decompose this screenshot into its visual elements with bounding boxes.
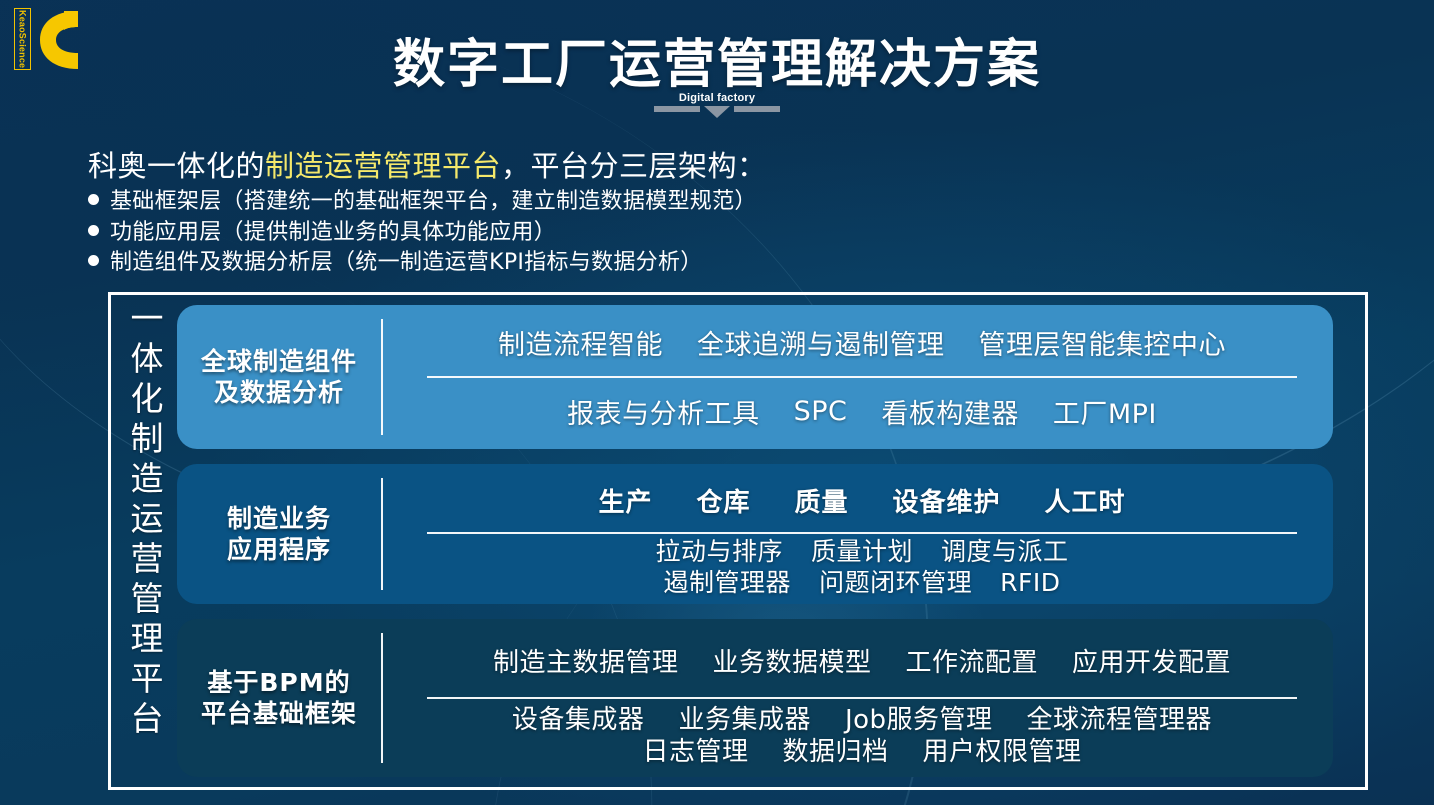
layer-item[interactable]: 看板构建器 — [881, 392, 1019, 431]
row-top-items: 生产 仓库 质量 设备维护 人工时 — [401, 470, 1323, 530]
layer-item[interactable]: RFID — [1000, 567, 1060, 598]
list-item: 基础框架层（搭建统一的基础框架平台，建立制造数据模型规范） — [88, 187, 1088, 217]
row-vertical-divider — [381, 633, 383, 763]
layer-item[interactable]: 设备维护 — [893, 482, 1001, 519]
deco-triangle-icon — [704, 106, 730, 118]
layer-row-business-applications[interactable]: 制造业务 应用程序 生产 仓库 质量 设备维护 人工时 — [177, 464, 1333, 604]
row-label-line1: 制造业务 — [227, 503, 331, 535]
page-title: 数字工厂运营管理解决方案 — [0, 22, 1434, 97]
row-bottom-items: 报表与分析工具 SPC 看板构建器 工厂MPI — [401, 380, 1323, 443]
row-label-business-applications: 制造业务 应用程序 — [177, 464, 381, 604]
intro-lead-before: 科奥一体化的 — [88, 149, 265, 183]
intro-block: 科奥一体化的制造运营管理平台，平台分三层架构： 基础框架层（搭建统一的基础框架平… — [88, 150, 1088, 278]
row-bottom-items: 拉动与排序 质量计划 调度与派工 遏制管理器 问题闭环管理 RFID — [401, 536, 1323, 598]
row-label-manufacturing-components: 全球制造组件 及数据分析 — [177, 305, 381, 449]
layer-item[interactable]: 数据归档 — [782, 736, 888, 768]
row-body-manufacturing-components: 制造流程智能 全球追溯与遏制管理 管理层智能集控中心 报表与分析工具 SPC 看… — [383, 305, 1333, 449]
layer-item[interactable]: Job服务管理 — [845, 704, 993, 736]
row-horizontal-divider — [427, 532, 1297, 534]
row-body-bpm-platform: 制造主数据管理 业务数据模型 工作流配置 应用开发配置 设备集成器 业务集成器 … — [383, 619, 1333, 777]
row-label-bpm-platform: 基于BPM的 平台基础框架 — [177, 619, 381, 777]
platform-vertical-label: 一体化制造运营管理平台 — [111, 295, 177, 787]
row-bottom-line-1: 设备集成器 业务集成器 Job服务管理 全球流程管理器 — [495, 704, 1229, 736]
layer-item[interactable]: 全球追溯与遏制管理 — [697, 323, 945, 362]
layer-item[interactable]: 问题闭环管理 — [819, 567, 972, 598]
row-label-line1: 基于BPM的 — [201, 667, 357, 699]
row-horizontal-divider — [427, 376, 1297, 378]
layer-item[interactable]: 遏制管理器 — [664, 567, 792, 598]
layer-item[interactable]: 调度与派工 — [941, 536, 1069, 567]
row-label-line1: 全球制造组件 — [201, 346, 357, 378]
intro-lead-highlight: 制造运营管理平台 — [265, 149, 501, 183]
platform-vertical-label-text: 一体化制造运营管理平台 — [120, 301, 168, 741]
bullet-text: 基础框架层（搭建统一的基础框架平台，建立制造数据模型规范） — [110, 187, 757, 217]
layer-item[interactable]: 用户权限管理 — [923, 736, 1082, 768]
layer-item[interactable]: 应用开发配置 — [1072, 642, 1231, 679]
bullet-dot-icon — [88, 255, 99, 266]
layer-item[interactable]: 拉动与排序 — [655, 536, 783, 567]
row-body-business-applications: 生产 仓库 质量 设备维护 人工时 拉动与排序 质量计划 调度与派工 — [383, 464, 1333, 604]
row-label-line2: 平台基础框架 — [201, 698, 357, 730]
layer-item[interactable]: 日志管理 — [642, 736, 748, 768]
deco-bar-right — [734, 106, 780, 112]
list-item: 制造组件及数据分析层（统一制造运营KPI指标与数据分析） — [88, 248, 1088, 278]
row-bottom-line-2: 遏制管理器 问题闭环管理 RFID — [650, 567, 1075, 598]
subtitle-block: Digital factory — [0, 92, 1434, 118]
layer-item[interactable]: 设备集成器 — [512, 704, 645, 736]
layer-item[interactable]: 质量计划 — [811, 536, 913, 567]
row-top-items: 制造主数据管理 业务数据模型 工作流配置 应用开发配置 — [401, 625, 1323, 695]
layer-item[interactable]: 业务集成器 — [678, 704, 811, 736]
slide-canvas: KeaoScience 数字工厂运营管理解决方案 Digital factory… — [0, 0, 1434, 805]
bullet-dot-icon — [88, 225, 99, 236]
layer-item[interactable]: 报表与分析工具 — [567, 392, 760, 431]
intro-lead-after: ，平台分三层架构： — [501, 149, 767, 183]
bullet-dot-icon — [88, 194, 99, 205]
page-subtitle: Digital factory — [679, 92, 755, 104]
layer-row-manufacturing-components[interactable]: 全球制造组件 及数据分析 制造流程智能 全球追溯与遏制管理 管理层智能集控中心 … — [177, 305, 1333, 449]
layer-item[interactable]: SPC — [794, 396, 848, 427]
row-vertical-divider — [381, 319, 383, 435]
row-bottom-items: 设备集成器 业务集成器 Job服务管理 全球流程管理器 日志管理 数据归档 用户… — [401, 701, 1323, 771]
subtitle-decoration — [654, 106, 780, 118]
layer-item[interactable]: 人工时 — [1045, 482, 1126, 519]
row-label-line2: 应用程序 — [227, 534, 331, 566]
layer-item[interactable]: 工作流配置 — [906, 642, 1039, 679]
layer-item[interactable]: 全球流程管理器 — [1027, 704, 1213, 736]
intro-bullet-list: 基础框架层（搭建统一的基础框架平台，建立制造数据模型规范） 功能应用层（提供制造… — [88, 187, 1088, 278]
layer-item[interactable]: 质量 — [794, 482, 848, 519]
layer-item[interactable]: 仓库 — [696, 482, 750, 519]
row-horizontal-divider — [427, 697, 1297, 699]
row-bottom-line-2: 日志管理 数据归档 用户权限管理 — [625, 736, 1098, 768]
architecture-diagram-frame: 一体化制造运营管理平台 全球制造组件 及数据分析 制造流程智能 全球追溯与遏制管… — [108, 292, 1368, 790]
layer-item[interactable]: 管理层智能集控中心 — [979, 323, 1227, 362]
bullet-text: 制造组件及数据分析层（统一制造运营KPI指标与数据分析） — [110, 248, 703, 278]
layer-item[interactable]: 生产 — [598, 482, 652, 519]
row-label-line2: 及数据分析 — [201, 377, 357, 409]
row-vertical-divider — [381, 478, 383, 590]
deco-bar-left — [654, 106, 700, 112]
intro-lead: 科奥一体化的制造运营管理平台，平台分三层架构： — [88, 150, 1088, 183]
layer-item[interactable]: 业务数据模型 — [712, 642, 871, 679]
layer-rows: 全球制造组件 及数据分析 制造流程智能 全球追溯与遏制管理 管理层智能集控中心 … — [177, 295, 1365, 787]
layer-row-bpm-platform[interactable]: 基于BPM的 平台基础框架 制造主数据管理 业务数据模型 工作流配置 应用开发配… — [177, 619, 1333, 777]
layer-item[interactable]: 制造流程智能 — [498, 323, 663, 362]
row-top-items: 制造流程智能 全球追溯与遏制管理 管理层智能集控中心 — [401, 311, 1323, 374]
layer-item[interactable]: 工厂MPI — [1053, 392, 1157, 431]
bullet-text: 功能应用层（提供制造业务的具体功能应用） — [110, 218, 556, 248]
row-bottom-line-1: 拉动与排序 质量计划 调度与派工 — [641, 536, 1082, 567]
layer-item[interactable]: 制造主数据管理 — [493, 642, 679, 679]
list-item: 功能应用层（提供制造业务的具体功能应用） — [88, 218, 1088, 248]
